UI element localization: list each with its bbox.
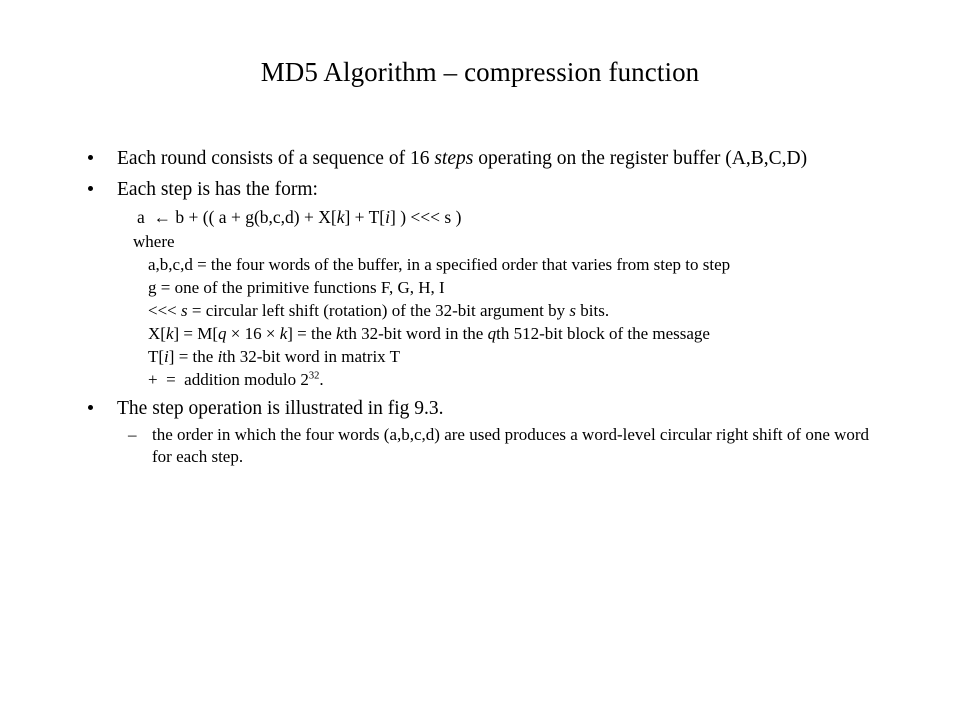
index-q: q — [218, 324, 227, 343]
index-i: i — [164, 347, 169, 366]
bullet-item-fig-reference: The step operation is illustrated in fig… — [84, 396, 884, 422]
exponent-32: 32 — [309, 370, 320, 381]
bullet-text: Each round consists of a sequence of 16 … — [117, 148, 807, 169]
index-i: i — [385, 207, 390, 227]
bullet-item-step-form: Each step is has the form: — [84, 177, 884, 203]
index-k: k — [337, 207, 345, 227]
index-q: q — [488, 324, 497, 343]
bullet-text: Each step is has the form: — [117, 179, 318, 200]
emphasis-steps: steps — [434, 148, 473, 169]
index-i: i — [218, 347, 223, 366]
step-formula: a ← b + (( a + g(b,c,d) + X[k] + T[i] ) … — [84, 205, 884, 230]
definition-g: g = one of the primitive functions F, G,… — [84, 276, 884, 299]
bullet-dot-icon — [88, 155, 93, 160]
definition-abcd: a,b,c,d = the four words of the buffer, … — [84, 253, 884, 276]
bullet-dot-icon — [88, 186, 93, 191]
index-k: k — [166, 324, 174, 343]
sub-bullet-word-order: – the order in which the four words (a,b… — [84, 424, 884, 468]
index-k: k — [280, 324, 288, 343]
slide-canvas: MD5 Algorithm – compression function Eac… — [0, 0, 960, 720]
bullet-dash-icon: – — [128, 424, 137, 446]
definition-xk: X[k] = M[q × 16 × k] = the kth 32-bit wo… — [84, 322, 884, 345]
bullet-dot-icon — [88, 405, 93, 410]
bullet-item-round-steps: Each round consists of a sequence of 16 … — [84, 146, 884, 172]
slide-body: Each round consists of a sequence of 16 … — [84, 146, 884, 468]
definition-shift: <<< s = circular left shift (rotation) o… — [84, 299, 884, 322]
left-arrow-icon: ← — [154, 207, 172, 227]
bullet-text: The step operation is illustrated in fig… — [117, 398, 444, 419]
sub-bullet-text: the order in which the four words (a,b,c… — [152, 425, 869, 466]
where-label: where — [84, 230, 884, 253]
definition-ti: T[i] = the ith 32-bit word in matrix T — [84, 345, 884, 368]
index-s: s — [181, 301, 188, 320]
index-k: k — [336, 324, 344, 343]
page-title: MD5 Algorithm – compression function — [0, 56, 960, 88]
definition-addition: + = addition modulo 232. — [84, 368, 884, 391]
index-s: s — [569, 301, 576, 320]
